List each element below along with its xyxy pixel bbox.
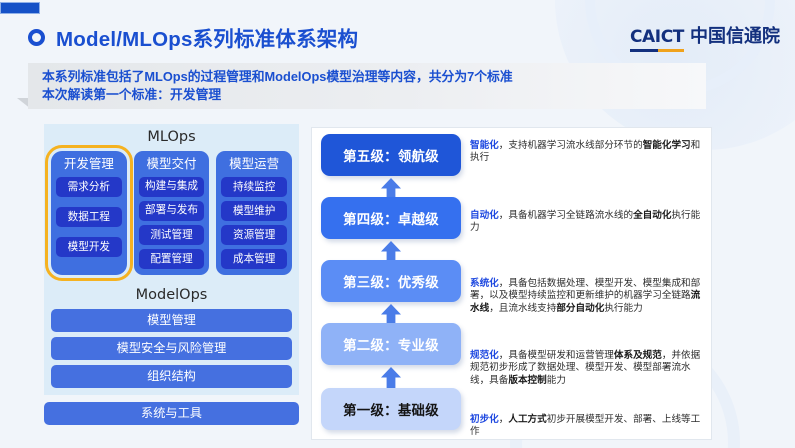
maturity-level-2[interactable]: 第二级：专业级 bbox=[321, 323, 461, 365]
mlops-item[interactable]: 部署与发布 bbox=[139, 201, 205, 221]
page-title: Model/MLOps系列标准体系架构 bbox=[56, 22, 358, 52]
mlops-item[interactable]: 资源管理 bbox=[221, 225, 287, 245]
mlops-item[interactable]: 持续监控 bbox=[221, 177, 287, 197]
maturity-description-4: 自动化，具备机器学习全链路流水线的全自动化执行能力 bbox=[470, 210, 703, 235]
mlops-item[interactable]: 模型维护 bbox=[221, 201, 287, 221]
mlops-column-development[interactable]: 开发管理 需求分析 数据工程 模型开发 bbox=[51, 151, 127, 275]
maturity-level-5[interactable]: 第五级：领航级 bbox=[321, 134, 461, 176]
mlops-item[interactable]: 成本管理 bbox=[221, 249, 287, 269]
maturity-level-4[interactable]: 第四级：卓越级 bbox=[321, 197, 461, 239]
slide-header: Model/MLOps系列标准体系架构 bbox=[28, 22, 358, 52]
modelops-section: ModelOps 模型管理 模型安全与风险管理 组织结构 bbox=[44, 283, 299, 395]
modelops-bar[interactable]: 模型安全与风险管理 bbox=[51, 337, 292, 360]
caict-logo: CAICT 中国信通院 bbox=[630, 22, 780, 52]
modelops-section-label: ModelOps bbox=[51, 284, 292, 309]
mlops-section-label: MLOps bbox=[51, 126, 292, 151]
slide-root: Model/MLOps系列标准体系架构 CAICT 中国信通院 本系列标准包括了… bbox=[0, 0, 795, 448]
mlops-column-delivery[interactable]: 模型交付 构建与集成 部署与发布 测试管理 配置管理 bbox=[134, 151, 210, 275]
mlops-column-operations[interactable]: 模型运营 持续监控 模型维护 资源管理 成本管理 bbox=[216, 151, 292, 275]
subtitle-line-1: 本系列标准包括了MLOps的过程管理和ModelOps模型治理等内容，共分为7个… bbox=[42, 68, 706, 86]
maturity-description-5: 智能化，支持机器学习流水线部分环节的智能化学习和执行 bbox=[470, 140, 703, 165]
mlops-item[interactable]: 需求分析 bbox=[56, 177, 122, 197]
subtitle-band: 本系列标准包括了MLOps的过程管理和ModelOps模型治理等内容，共分为7个… bbox=[28, 63, 706, 109]
standards-architecture-panel: MLOps 开发管理 需求分析 数据工程 模型开发 模型交付 构建与集成 部署与… bbox=[44, 124, 299, 441]
mlops-column-header: 开发管理 bbox=[56, 155, 122, 177]
logo-wordmark-text: CAICT bbox=[630, 27, 684, 47]
mlops-section: MLOps 开发管理 需求分析 数据工程 模型开发 模型交付 构建与集成 部署与… bbox=[44, 124, 299, 283]
logo-chinese-name: 中国信通院 bbox=[690, 22, 780, 52]
maturity-description-2: 规范化，具备模型研发和运营管理体系及规范，并依据规范初步形成了数据处理、模型开发… bbox=[470, 350, 703, 387]
mlops-item[interactable]: 测试管理 bbox=[139, 225, 205, 245]
mlops-column-header: 模型运营 bbox=[221, 155, 287, 177]
logo-wordmark: CAICT bbox=[630, 27, 684, 52]
mlops-item[interactable]: 构建与集成 bbox=[139, 177, 205, 197]
logo-underline bbox=[630, 49, 684, 52]
ring-icon bbox=[28, 29, 45, 46]
foundation-bar-systems-and-tools[interactable]: 系统与工具 bbox=[44, 402, 299, 425]
maturity-level-3[interactable]: 第三级：优秀级 bbox=[321, 260, 461, 302]
subtitle-line-2: 本次解读第一个标准：开发管理 bbox=[42, 86, 706, 104]
mlops-item[interactable]: 数据工程 bbox=[56, 207, 122, 227]
maturity-description-1: 初步化，人工方式初步开展模型开发、部署、上线等工作 bbox=[470, 414, 703, 439]
mlops-columns: 开发管理 需求分析 数据工程 模型开发 模型交付 构建与集成 部署与发布 测试管… bbox=[51, 151, 292, 275]
corner-accent-bar bbox=[0, 2, 40, 14]
mlops-item[interactable]: 配置管理 bbox=[139, 249, 205, 269]
modelops-bar[interactable]: 模型管理 bbox=[51, 309, 292, 332]
maturity-level-column: 第五级：领航级 第四级：卓越级 第三级：优秀级 第二级：专业级 第一级：基础级 bbox=[321, 134, 461, 435]
mlops-item[interactable]: 模型开发 bbox=[56, 237, 122, 257]
maturity-model-panel: 第五级：领航级 第四级：卓越级 第三级：优秀级 第二级：专业级 第一级：基础级 … bbox=[311, 127, 712, 440]
maturity-level-1[interactable]: 第一级：基础级 bbox=[321, 388, 461, 430]
modelops-bar[interactable]: 组织结构 bbox=[51, 365, 292, 388]
mlops-column-header: 模型交付 bbox=[139, 155, 205, 177]
maturity-description-3: 系统化，具备包括数据处理、模型开发、模型集成和部署，以及模型持续监控和更新维护的… bbox=[470, 278, 703, 315]
up-arrow-icon bbox=[381, 367, 401, 389]
